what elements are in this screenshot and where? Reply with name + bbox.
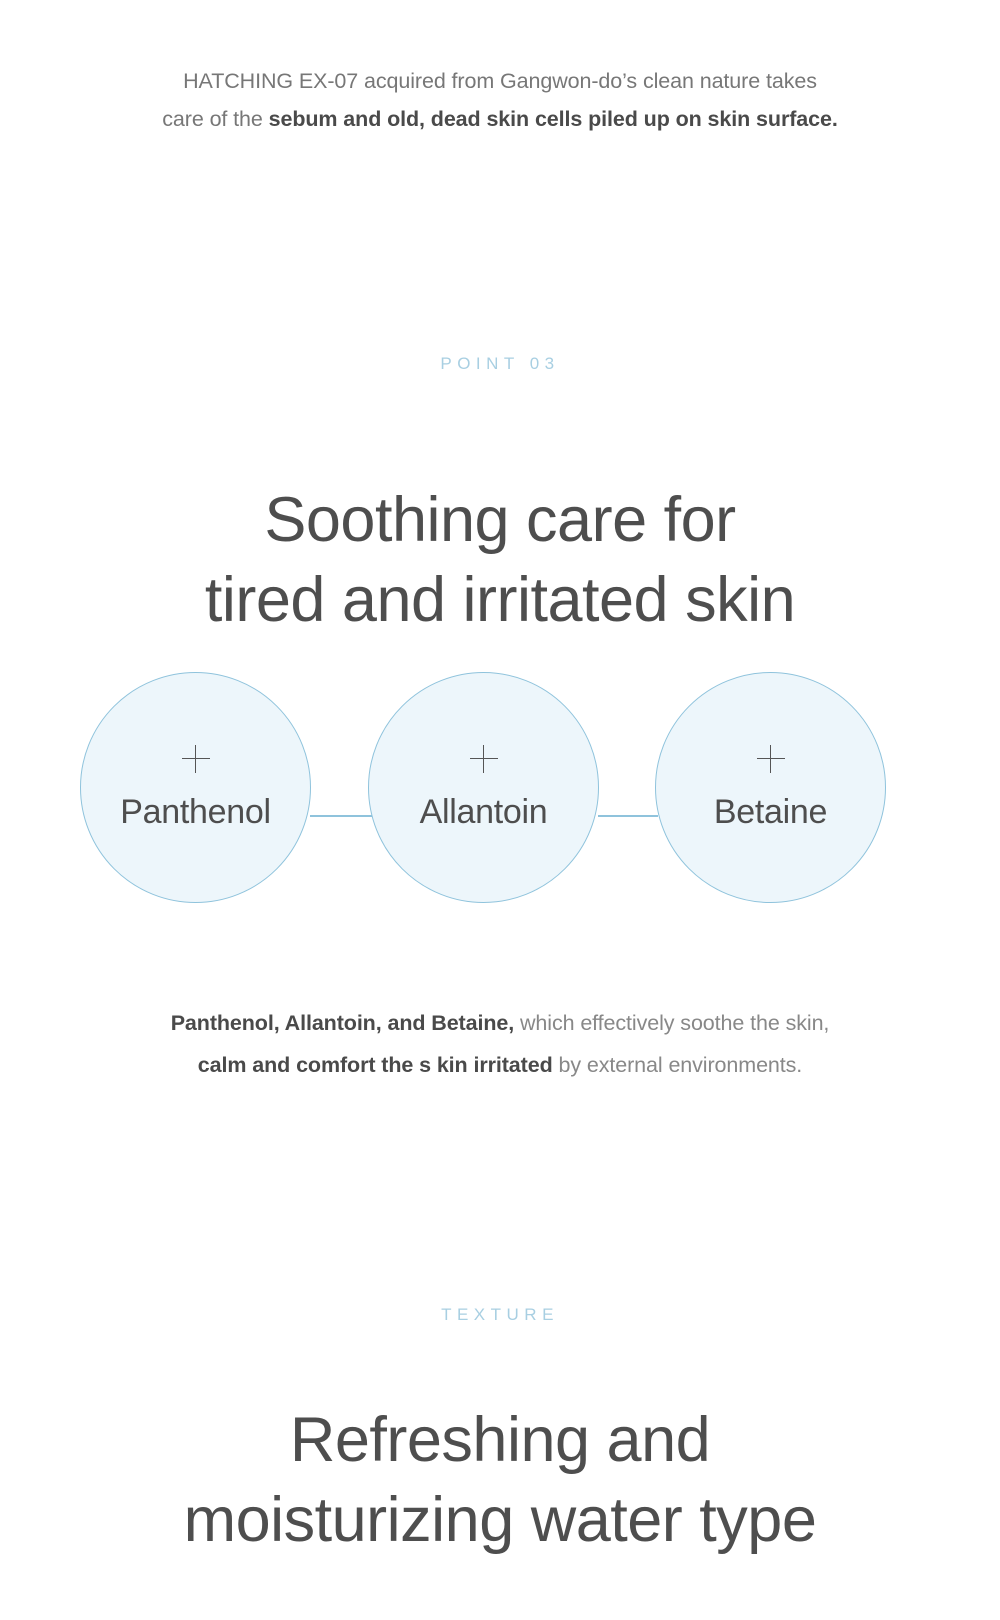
connector-line-2: [598, 815, 658, 817]
point-section-headline: Soothing care for tired and irritated sk…: [0, 480, 1000, 640]
intro-paragraph: HATCHING EX-07 acquired from Gangwon-do’…: [0, 62, 1000, 138]
point-section-eyebrow: POINT 03: [0, 354, 1000, 374]
plus-icon: [757, 745, 785, 773]
product-detail-page: HATCHING EX-07 acquired from Gangwon-do’…: [0, 0, 1000, 1620]
intro-line-2-lead: care of the: [162, 107, 268, 131]
description-line-1-regular: which effectively soothe the skin,: [514, 1011, 829, 1035]
description-line-1-emphasis: Panthenol, Allantoin, and Betaine,: [171, 1011, 514, 1035]
connector-line-1: [310, 815, 372, 817]
point-headline-line-1: Soothing care for: [0, 480, 1000, 560]
texture-section-headline: Refreshing and moisturizing water type: [0, 1400, 1000, 1560]
texture-headline-line-1: Refreshing and: [0, 1400, 1000, 1480]
ingredient-circle-allantoin: Allantoin: [368, 672, 599, 903]
plus-icon: [470, 745, 498, 773]
intro-line-2-emphasis: sebum and old, dead skin cells piled up …: [269, 107, 838, 131]
ingredient-label-betaine: Betaine: [714, 793, 827, 831]
ingredient-description: Panthenol, Allantoin, and Betaine, which…: [0, 1002, 1000, 1086]
plus-icon: [182, 745, 210, 773]
ingredient-label-panthenol: Panthenol: [120, 793, 270, 831]
ingredient-label-allantoin: Allantoin: [420, 793, 548, 831]
intro-line-1: HATCHING EX-07 acquired from Gangwon-do’…: [183, 69, 817, 93]
description-line-2-emphasis: calm and comfort the s kin irritated: [198, 1053, 553, 1077]
ingredient-diagram: Panthenol Allantoin Betaine: [0, 670, 1000, 906]
ingredient-circle-panthenol: Panthenol: [80, 672, 311, 903]
point-headline-line-2: tired and irritated skin: [0, 560, 1000, 640]
ingredient-circle-betaine: Betaine: [655, 672, 886, 903]
description-line-2-regular: by external environments.: [553, 1053, 803, 1077]
texture-headline-line-2: moisturizing water type: [0, 1480, 1000, 1560]
texture-section-eyebrow: TEXTURE: [0, 1305, 1000, 1325]
